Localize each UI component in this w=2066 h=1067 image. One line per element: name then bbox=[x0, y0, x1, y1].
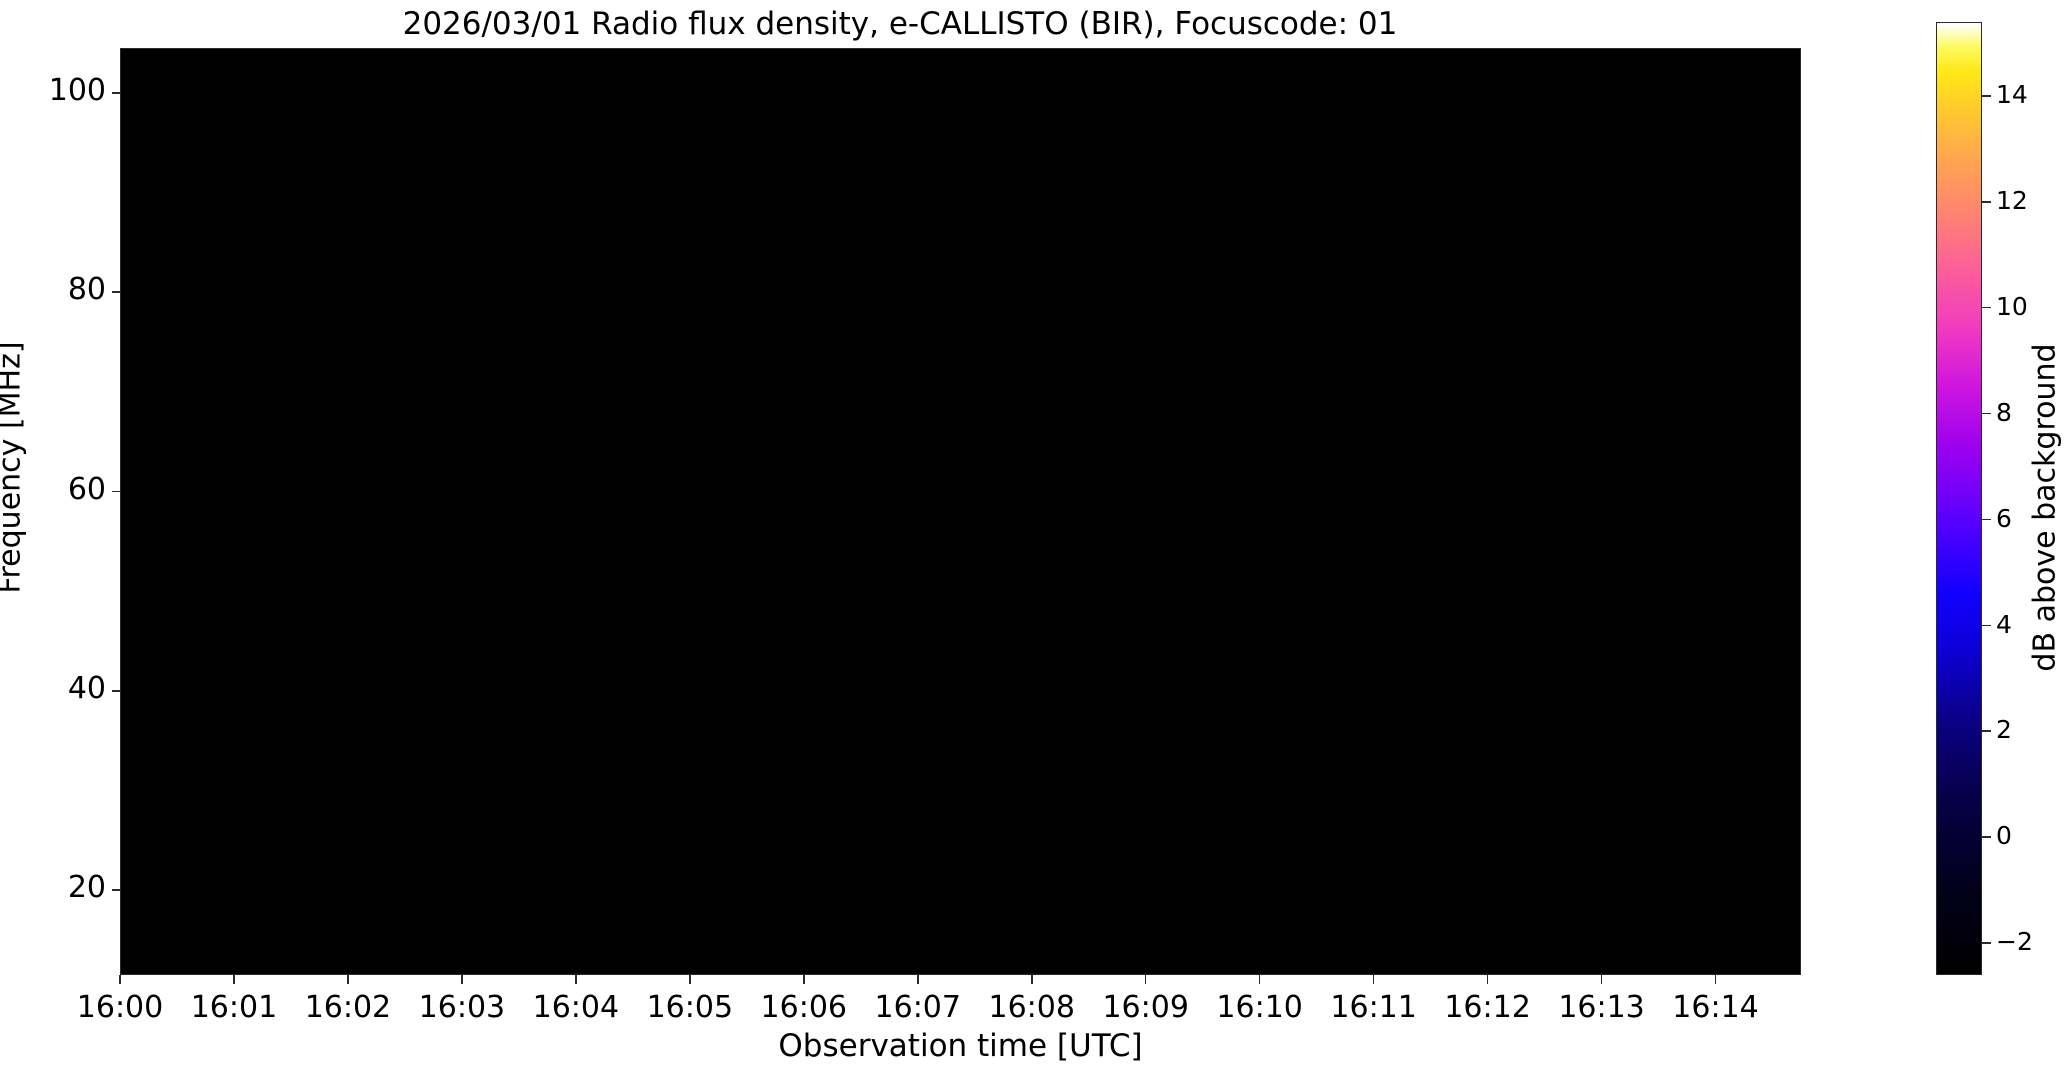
colorbar-tick-mark bbox=[1982, 942, 1991, 944]
x-tick-mark bbox=[689, 975, 691, 984]
colorbar-tick-label: 14 bbox=[1996, 82, 2028, 107]
colorbar-tick-label: 12 bbox=[1996, 188, 2028, 213]
colorbar-tick-label: 10 bbox=[1996, 294, 2028, 319]
y-tick-mark bbox=[112, 291, 121, 293]
x-tick-mark bbox=[575, 975, 577, 984]
colorbar-tick-label: 2 bbox=[1996, 717, 2012, 742]
colorbar-tick-label: 8 bbox=[1996, 400, 2012, 425]
spectrogram-plot[interactable] bbox=[120, 48, 1801, 975]
colorbar[interactable] bbox=[1936, 22, 1982, 975]
spectrogram-image bbox=[121, 49, 1800, 974]
colorbar-tick-mark bbox=[1982, 519, 1991, 521]
x-tick-mark bbox=[119, 975, 121, 984]
y-tick-mark bbox=[112, 889, 121, 891]
figure-root: 2026/03/01 Radio flux density, e-CALLIST… bbox=[0, 0, 2066, 1067]
x-tick-mark bbox=[803, 975, 805, 984]
y-tick-mark bbox=[112, 690, 121, 692]
y-tick-label: 20 bbox=[0, 873, 106, 903]
y-tick-label: 100 bbox=[0, 76, 106, 106]
x-tick-label: 16:14 bbox=[1636, 990, 1796, 1025]
y-tick-mark bbox=[112, 491, 121, 493]
x-tick-mark bbox=[1259, 975, 1261, 984]
colorbar-tick-label: 6 bbox=[1996, 506, 2012, 531]
y-tick-label: 60 bbox=[0, 475, 106, 505]
colorbar-tick-label: 4 bbox=[1996, 612, 2012, 637]
y-tick-label: 80 bbox=[0, 275, 106, 305]
x-tick-mark bbox=[1601, 975, 1603, 984]
x-tick-mark bbox=[1145, 975, 1147, 984]
colorbar-tick-mark bbox=[1982, 95, 1991, 97]
colorbar-tick-mark bbox=[1982, 730, 1991, 732]
page-title: 2026/03/01 Radio flux density, e-CALLIST… bbox=[0, 6, 1800, 42]
y-tick-label: 40 bbox=[0, 674, 106, 704]
colorbar-tick-mark bbox=[1982, 836, 1991, 838]
x-tick-mark bbox=[1487, 975, 1489, 984]
y-axis-label: Frequency [MHz] bbox=[0, 18, 28, 918]
x-tick-mark bbox=[233, 975, 235, 984]
x-tick-mark bbox=[347, 975, 349, 984]
colorbar-label: dB above background bbox=[2028, 168, 2063, 848]
colorbar-tick-mark bbox=[1982, 413, 1991, 415]
colorbar-tick-mark bbox=[1982, 201, 1991, 203]
colorbar-tick-label: −2 bbox=[1996, 929, 2033, 954]
colorbar-tick-label: 0 bbox=[1996, 823, 2012, 848]
x-tick-mark bbox=[1373, 975, 1375, 984]
y-tick-mark bbox=[112, 92, 121, 94]
colorbar-tick-mark bbox=[1982, 307, 1991, 309]
x-tick-mark bbox=[917, 975, 919, 984]
colorbar-tick-mark bbox=[1982, 625, 1991, 627]
x-axis-label: Observation time [UTC] bbox=[120, 1028, 1801, 1064]
x-tick-mark bbox=[1031, 975, 1033, 984]
x-tick-mark bbox=[461, 975, 463, 984]
x-tick-mark bbox=[1715, 975, 1717, 984]
